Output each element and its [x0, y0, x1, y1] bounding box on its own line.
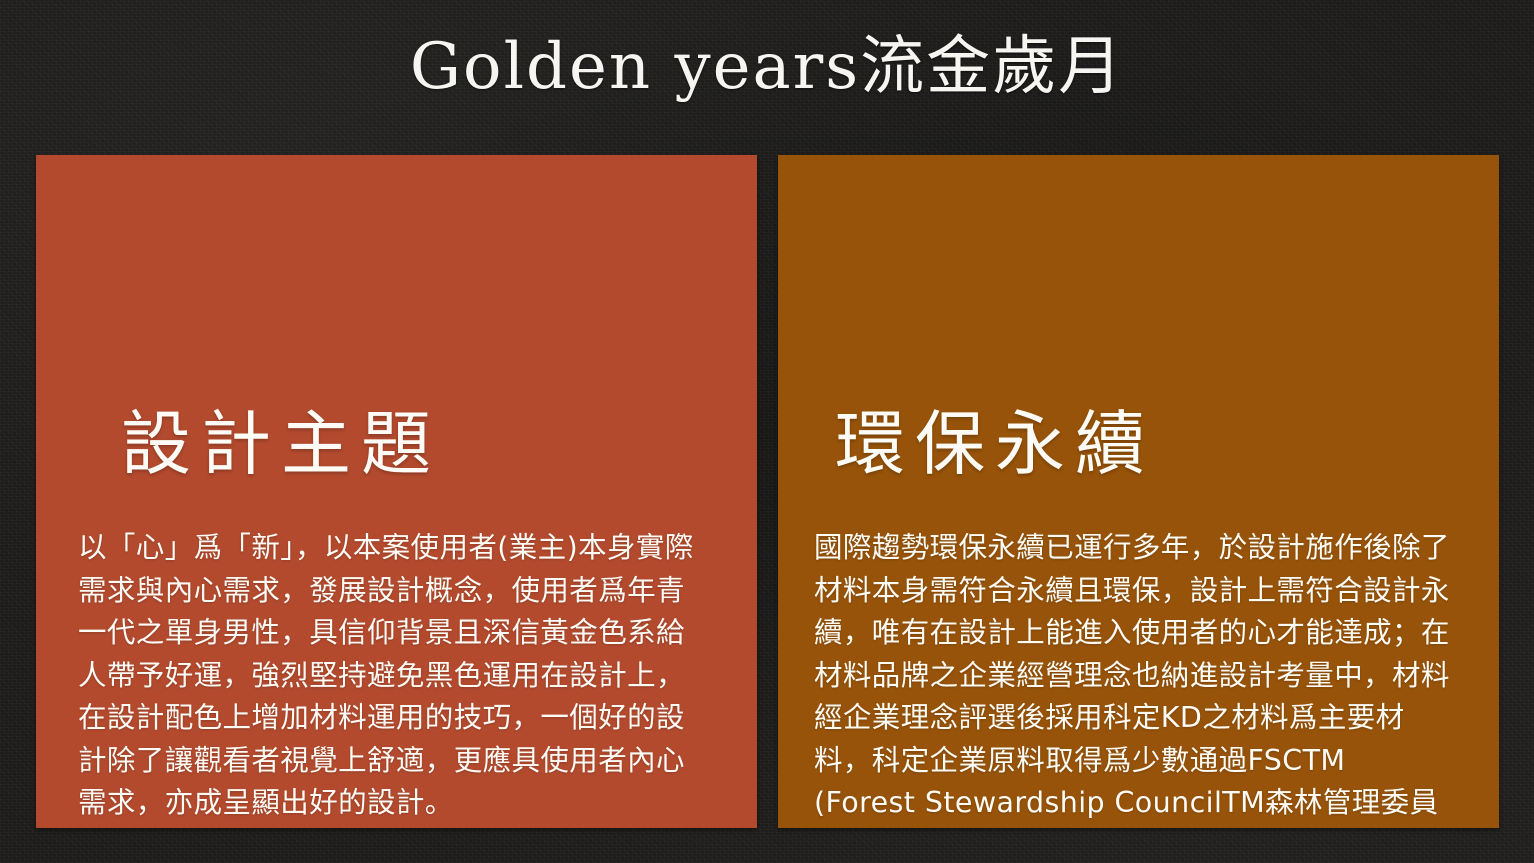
slide-canvas: Golden years流金歲月 設計主題 以「心」爲「新」，以本案使用者(業主… [0, 0, 1534, 863]
panel-design-theme-body: 以「心」爲「新」，以本案使用者(業主)本身實際需求與內心需求，發展設計概念，使用… [78, 527, 712, 825]
panel-eco-sustainability-body: 國際趨勢環保永續已運行多年，於設計施作後除了材料本身需符合永續且環保，設計上需符… [814, 527, 1454, 828]
panel-design-theme-heading: 設計主題 [121, 401, 441, 487]
slide-title: Golden years流金歲月 [0, 28, 1534, 106]
panel-design-theme: 設計主題 以「心」爲「新」，以本案使用者(業主)本身實際需求與內心需求，發展設計… [36, 155, 757, 828]
panel-eco-sustainability: 環保永續 國際趨勢環保永續已運行多年，於設計施作後除了材料本身需符合永續且環保，… [778, 155, 1499, 828]
panel-eco-sustainability-heading: 環保永續 [835, 401, 1155, 487]
